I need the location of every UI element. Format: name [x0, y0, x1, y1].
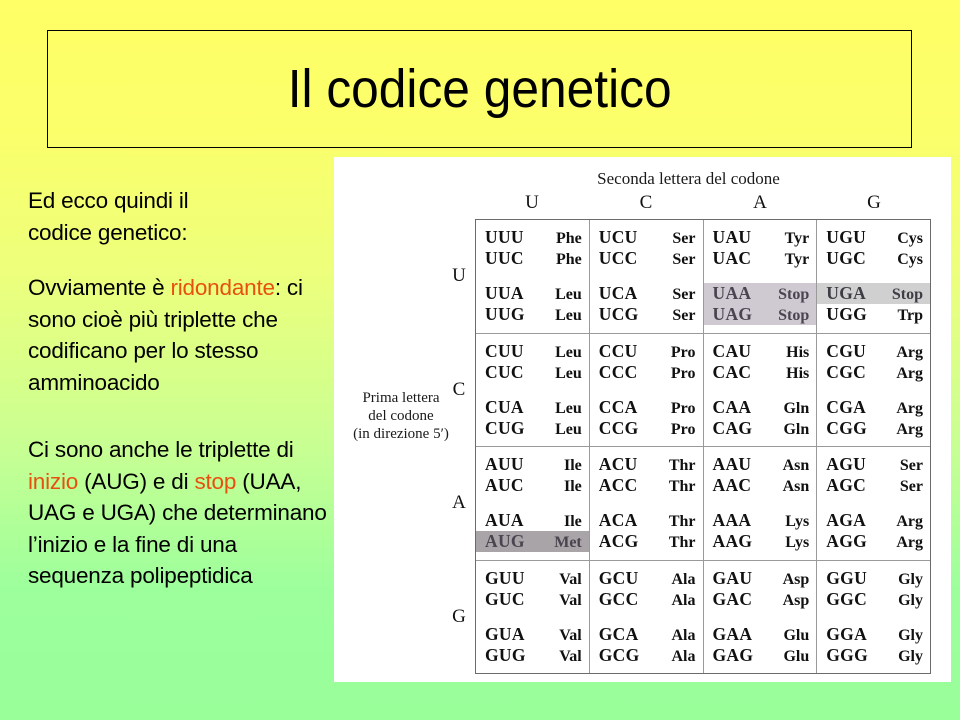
codon-triplet: CAU — [713, 341, 765, 362]
codon-entry: CAAGln — [704, 397, 817, 418]
amino-acid-label: Gly — [878, 571, 923, 589]
codon-entry: GUUVal — [476, 568, 589, 589]
codon-entry: CCGPro — [590, 418, 703, 439]
amino-acid-label: Val — [537, 592, 582, 610]
amino-acid-label: Leu — [537, 400, 582, 418]
codon-pair-bottom: GAAGluGAGGlu — [704, 624, 817, 666]
codon-triplet: AAG — [713, 531, 765, 552]
first-letter-caption-line-3: (in direzione 5′) — [340, 425, 462, 443]
codon-entry: GCUAla — [590, 568, 703, 589]
codon-cell-au: AUUIleAUCIleAUAIleAUGMet — [476, 447, 590, 560]
paragraph-redundancy-before: Ovviamente è — [28, 275, 170, 300]
codon-triplet: UGA — [826, 283, 878, 304]
codon-entry: UUUPhe — [476, 227, 589, 248]
codon-entry: AAUAsn — [704, 454, 817, 475]
codon-pair-top: CUULeuCUCLeu — [476, 341, 589, 383]
codon-pair-bottom: CUALeuCUGLeu — [476, 397, 589, 439]
amino-acid-label: Val — [537, 627, 582, 645]
codon-triplet: GGA — [826, 624, 878, 645]
codon-entry: AUAIle — [476, 510, 589, 531]
first-letter-caption-line-1: Prima lettera — [340, 389, 462, 407]
codon-triplet: UCG — [599, 304, 651, 325]
codon-triplet: GCA — [599, 624, 651, 645]
amino-acid-label: Leu — [537, 307, 582, 325]
amino-acid-label: Arg — [878, 534, 923, 552]
codon-entry: UUCPhe — [476, 248, 589, 269]
amino-acid-label: Tyr — [765, 230, 810, 248]
codon-pair-bottom: UUALeuUUGLeu — [476, 283, 589, 325]
codon-pair-bottom: UAAStopUAGStop — [704, 283, 817, 325]
amino-acid-label: Ser — [878, 457, 923, 475]
column-letter-a: A — [703, 192, 817, 214]
codon-triplet: CUG — [485, 418, 537, 439]
codon-triplet: GCU — [599, 568, 651, 589]
codon-triplet: CGC — [826, 362, 878, 383]
codon-entry: AUGMet — [476, 531, 589, 552]
codon-entry: UGCCys — [817, 248, 930, 269]
codon-triplet: GGG — [826, 645, 878, 666]
codon-cell-aa: AAUAsnAACAsnAAALysAAGLys — [704, 447, 818, 560]
codon-entry: AGUSer — [817, 454, 930, 475]
codon-pair-top: UAUTyrUACTyr — [704, 227, 817, 269]
codon-triplet: CGA — [826, 397, 878, 418]
codon-row-g: GUUValGUCValGUAValGUGValGCUAlaGCCAlaGCAA… — [476, 561, 930, 674]
amino-acid-label: Asp — [765, 571, 810, 589]
amino-acid-label: Ile — [537, 513, 582, 531]
amino-acid-label: Asn — [765, 457, 810, 475]
amino-acid-label: His — [765, 344, 810, 362]
amino-acid-label: Ala — [651, 627, 696, 645]
codon-triplet: GUG — [485, 645, 537, 666]
codon-entry: ACAThr — [590, 510, 703, 531]
row-letter-header-column: UCAG — [446, 219, 472, 674]
codon-triplet: GAC — [713, 589, 765, 610]
codon-row-u: UUUPheUUCPheUUALeuUUGLeuUCUSerUCCSerUCAS… — [476, 220, 930, 334]
codon-triplet: AAA — [713, 510, 765, 531]
codon-pair-bottom: ACAThrACGThr — [590, 510, 703, 552]
codon-cell-cu: CUULeuCUCLeuCUALeuCUGLeu — [476, 334, 590, 447]
amino-acid-label: Arg — [878, 421, 923, 439]
codon-triplet: CGG — [826, 418, 878, 439]
codon-entry: CGAArg — [817, 397, 930, 418]
amino-acid-label: Leu — [537, 286, 582, 304]
codon-pair-top: GAUAspGACAsp — [704, 568, 817, 610]
codon-pair-top: AAUAsnAACAsn — [704, 454, 817, 496]
lead-line-1: Ed ecco quindi il — [28, 188, 188, 213]
amino-acid-label: Gln — [765, 400, 810, 418]
amino-acid-label: Met — [537, 534, 582, 552]
codon-entry: GCAAla — [590, 624, 703, 645]
codon-entry: AGGArg — [817, 531, 930, 552]
codon-triplet: ACU — [599, 454, 651, 475]
second-letter-caption-text: Seconda lettera del codone — [597, 169, 780, 188]
highlight-inizio: inizio — [28, 469, 78, 494]
row-letter-c: C — [446, 333, 472, 447]
codon-cell-ca: CAUHisCACHisCAAGlnCAGGln — [704, 334, 818, 447]
codon-triplet: UAU — [713, 227, 765, 248]
page-title: Il codice genetico — [288, 58, 672, 120]
codon-entry: GGGGly — [817, 645, 930, 666]
amino-acid-label: Pro — [651, 400, 696, 418]
codon-entry: UUALeu — [476, 283, 589, 304]
amino-acid-label: Lys — [765, 513, 810, 531]
codon-entry: UGAStop — [817, 283, 930, 304]
codon-pair-bottom: GCAAlaGCGAla — [590, 624, 703, 666]
codon-entry: GCGAla — [590, 645, 703, 666]
codon-triplet: UGG — [826, 304, 878, 325]
paragraph-start-stop-part-2: (AUG) e di — [78, 469, 194, 494]
codon-cell-ug: UGUCysUGCCysUGAStopUGGTrp — [817, 220, 930, 333]
highlight-ridondante: ridondante — [170, 275, 274, 300]
codon-triplet: GGC — [826, 589, 878, 610]
codon-cell-gu: GUUValGUCValGUAValGUGVal — [476, 561, 590, 674]
codon-triplet: UUA — [485, 283, 537, 304]
column-letter-g: G — [817, 192, 931, 214]
codon-pair-bottom: UGAStopUGGTrp — [817, 283, 930, 325]
codon-triplet: CAG — [713, 418, 765, 439]
codon-entry: GAAGlu — [704, 624, 817, 645]
amino-acid-label: Arg — [878, 365, 923, 383]
codon-triplet: UCC — [599, 248, 651, 269]
codon-pair-bottom: GUAValGUGVal — [476, 624, 589, 666]
codon-triplet: UGC — [826, 248, 878, 269]
codon-entry: AUUIle — [476, 454, 589, 475]
amino-acid-label: Ala — [651, 648, 696, 666]
amino-acid-label: Tyr — [765, 251, 810, 269]
codon-pair-top: CGUArgCGCArg — [817, 341, 930, 383]
codon-row-c: CUULeuCUCLeuCUALeuCUGLeuCCUProCCCProCCAP… — [476, 334, 930, 448]
column-letter-header-row: UCAG — [475, 192, 931, 214]
codon-triplet: GGU — [826, 568, 878, 589]
amino-acid-label: Thr — [651, 534, 696, 552]
amino-acid-label: Cys — [878, 251, 923, 269]
codon-entry: CUCLeu — [476, 362, 589, 383]
amino-acid-label: Ser — [651, 251, 696, 269]
codon-cell-gc: GCUAlaGCCAlaGCAAlaGCGAla — [590, 561, 704, 674]
codon-pair-top: GCUAlaGCCAla — [590, 568, 703, 610]
codon-triplet: AGA — [826, 510, 878, 531]
codon-triplet: GUA — [485, 624, 537, 645]
codon-pair-bottom: CCAProCCGPro — [590, 397, 703, 439]
codon-pair-top: GUUValGUCVal — [476, 568, 589, 610]
codon-entry: UAAStop — [704, 283, 817, 304]
codon-entry: GAUAsp — [704, 568, 817, 589]
codon-triplet: GCC — [599, 589, 651, 610]
codon-entry: ACCThr — [590, 475, 703, 496]
amino-acid-label: Ser — [651, 230, 696, 248]
codon-pair-bottom: UCASerUCGSer — [590, 283, 703, 325]
codon-entry: AGCSer — [817, 475, 930, 496]
codon-pair-bottom: GGAGlyGGGGly — [817, 624, 930, 666]
codon-triplet: AUA — [485, 510, 537, 531]
row-letter-a: A — [446, 447, 472, 561]
amino-acid-label: Glu — [765, 627, 810, 645]
codon-entry: CUALeu — [476, 397, 589, 418]
amino-acid-label: Arg — [878, 344, 923, 362]
amino-acid-label: Val — [537, 571, 582, 589]
codon-entry: CCUPro — [590, 341, 703, 362]
codon-entry: GACAsp — [704, 589, 817, 610]
codon-entry: CGGArg — [817, 418, 930, 439]
codon-triplet: GAA — [713, 624, 765, 645]
codon-triplet: ACA — [599, 510, 651, 531]
lead-line-2: codice genetico: — [28, 220, 187, 245]
codon-triplet: ACG — [599, 531, 651, 552]
amino-acid-label: Gln — [765, 421, 810, 439]
amino-acid-label: Leu — [537, 421, 582, 439]
amino-acid-label: Lys — [765, 534, 810, 552]
codon-entry: AACAsn — [704, 475, 817, 496]
codon-cell-uu: UUUPheUUCPheUUALeuUUGLeu — [476, 220, 590, 333]
explanatory-text-column: Ed ecco quindi il codice genetico: Ovvia… — [28, 185, 328, 592]
highlight-stop: stop — [194, 469, 236, 494]
codon-triplet: CUU — [485, 341, 537, 362]
amino-acid-label: Val — [537, 648, 582, 666]
codon-pair-top: UGUCysUGCCys — [817, 227, 930, 269]
codon-triplet: UUG — [485, 304, 537, 325]
codon-pair-top: UUUPheUUCPhe — [476, 227, 589, 269]
codon-grid: UUUPheUUCPheUUALeuUUGLeuUCUSerUCCSerUCAS… — [475, 219, 931, 674]
codon-entry: CGCArg — [817, 362, 930, 383]
amino-acid-label: Stop — [878, 286, 923, 304]
codon-triplet: UAC — [713, 248, 765, 269]
amino-acid-label: Phe — [537, 251, 582, 269]
codon-entry: AAALys — [704, 510, 817, 531]
amino-acid-label: Gly — [878, 627, 923, 645]
codon-entry: AGAArg — [817, 510, 930, 531]
codon-triplet: ACC — [599, 475, 651, 496]
amino-acid-label: Cys — [878, 230, 923, 248]
codon-triplet: AAC — [713, 475, 765, 496]
codon-entry: CAUHis — [704, 341, 817, 362]
amino-acid-label: Ser — [651, 286, 696, 304]
row-letter-u: U — [446, 219, 472, 333]
amino-acid-label: Thr — [651, 457, 696, 475]
amino-acid-label: Pro — [651, 365, 696, 383]
codon-triplet: UUU — [485, 227, 537, 248]
codon-pair-top: CAUHisCACHis — [704, 341, 817, 383]
codon-pair-top: ACUThrACCThr — [590, 454, 703, 496]
codon-cell-ag: AGUSerAGCSerAGAArgAGGArg — [817, 447, 930, 560]
codon-triplet: CUA — [485, 397, 537, 418]
codon-pair-bottom: CGAArgCGGArg — [817, 397, 930, 439]
codon-cell-ac: ACUThrACCThrACAThrACGThr — [590, 447, 704, 560]
codon-triplet: CCC — [599, 362, 651, 383]
amino-acid-label: Arg — [878, 400, 923, 418]
codon-cell-uc: UCUSerUCCSerUCASerUCGSer — [590, 220, 704, 333]
amino-acid-label: Ile — [537, 457, 582, 475]
amino-acid-label: Ala — [651, 571, 696, 589]
codon-entry: CGUArg — [817, 341, 930, 362]
codon-entry: GUGVal — [476, 645, 589, 666]
row-letter-g: G — [446, 560, 472, 674]
codon-entry: UACTyr — [704, 248, 817, 269]
codon-entry: CCCPro — [590, 362, 703, 383]
codon-entry: CUULeu — [476, 341, 589, 362]
codon-entry: CAGGln — [704, 418, 817, 439]
codon-entry: GGAGly — [817, 624, 930, 645]
codon-pair-bottom: CAAGlnCAGGln — [704, 397, 817, 439]
amino-acid-label: Ala — [651, 592, 696, 610]
codon-pair-top: AUUIleAUCIle — [476, 454, 589, 496]
amino-acid-label: His — [765, 365, 810, 383]
paragraph-start-stop-part-1: Ci sono anche le triplette di — [28, 437, 294, 462]
codon-pair-bottom: AUAIleAUGMet — [476, 510, 589, 552]
amino-acid-label: Stop — [765, 286, 810, 304]
codon-triplet: CUC — [485, 362, 537, 383]
codon-entry: AUCIle — [476, 475, 589, 496]
codon-entry: UGUCys — [817, 227, 930, 248]
codon-triplet: CCG — [599, 418, 651, 439]
codon-entry: GUAVal — [476, 624, 589, 645]
codon-entry: GUCVal — [476, 589, 589, 610]
codon-triplet: AUG — [485, 531, 537, 552]
codon-entry: UCUSer — [590, 227, 703, 248]
amino-acid-label: Trp — [878, 307, 923, 325]
amino-acid-label: Thr — [651, 478, 696, 496]
codon-pair-bottom: AAALysAAGLys — [704, 510, 817, 552]
codon-triplet: CGU — [826, 341, 878, 362]
title-box: Il codice genetico — [47, 30, 912, 148]
codon-triplet: UAA — [713, 283, 765, 304]
codon-triplet: CCA — [599, 397, 651, 418]
paragraph-start-stop: Ci sono anche le triplette di inizio (AU… — [28, 434, 328, 592]
codon-entry: CACHis — [704, 362, 817, 383]
amino-acid-label: Ser — [878, 478, 923, 496]
amino-acid-label: Leu — [537, 344, 582, 362]
codon-triplet: GUC — [485, 589, 537, 610]
codon-triplet: AGU — [826, 454, 878, 475]
codon-triplet: AAU — [713, 454, 765, 475]
amino-acid-label: Gly — [878, 592, 923, 610]
codon-entry: UCASer — [590, 283, 703, 304]
codon-triplet: GCG — [599, 645, 651, 666]
codon-cell-ua: UAUTyrUACTyrUAAStopUAGStop — [704, 220, 818, 333]
column-letter-c: C — [589, 192, 703, 214]
codon-entry: UCCSer — [590, 248, 703, 269]
amino-acid-label: Thr — [651, 513, 696, 531]
codon-entry: UUGLeu — [476, 304, 589, 325]
codon-triplet: UGU — [826, 227, 878, 248]
genetic-code-table-panel: Seconda lettera del codone UCAG Prima le… — [334, 157, 951, 682]
codon-cell-ga: GAUAspGACAspGAAGluGAGGlu — [704, 561, 818, 674]
codon-entry: UAGStop — [704, 304, 817, 325]
codon-pair-top: GGUGlyGGCGly — [817, 568, 930, 610]
codon-entry: GCCAla — [590, 589, 703, 610]
paragraph-redundancy: Ovviamente è ridondante: ci sono cioè pi… — [28, 272, 328, 398]
amino-acid-label: Ile — [537, 478, 582, 496]
codon-entry: AAGLys — [704, 531, 817, 552]
codon-entry: CUGLeu — [476, 418, 589, 439]
codon-triplet: AUU — [485, 454, 537, 475]
amino-acid-label: Pro — [651, 421, 696, 439]
amino-acid-label: Glu — [765, 648, 810, 666]
amino-acid-label: Phe — [537, 230, 582, 248]
codon-triplet: UAG — [713, 304, 765, 325]
codon-entry: UGGTrp — [817, 304, 930, 325]
column-letter-u: U — [475, 192, 589, 214]
amino-acid-label: Pro — [651, 344, 696, 362]
codon-entry: UAUTyr — [704, 227, 817, 248]
amino-acid-label: Arg — [878, 513, 923, 531]
codon-triplet: AGC — [826, 475, 878, 496]
first-letter-caption-line-2: del codone — [340, 407, 462, 425]
codon-triplet: AGG — [826, 531, 878, 552]
amino-acid-label: Asp — [765, 592, 810, 610]
codon-cell-cg: CGUArgCGCArgCGAArgCGGArg — [817, 334, 930, 447]
codon-triplet: UCA — [599, 283, 651, 304]
lead-paragraph: Ed ecco quindi il codice genetico: — [28, 185, 328, 248]
codon-cell-gg: GGUGlyGGCGlyGGAGlyGGGGly — [817, 561, 930, 674]
codon-triplet: CCU — [599, 341, 651, 362]
codon-pair-bottom: AGAArgAGGArg — [817, 510, 930, 552]
codon-triplet: UUC — [485, 248, 537, 269]
amino-acid-label: Leu — [537, 365, 582, 383]
amino-acid-label: Ser — [651, 307, 696, 325]
codon-entry: ACUThr — [590, 454, 703, 475]
codon-entry: GGUGly — [817, 568, 930, 589]
second-letter-caption: Seconda lettera del codone — [334, 169, 951, 189]
first-letter-caption: Prima lettera del codone (in direzione 5… — [340, 389, 462, 443]
codon-triplet: GAU — [713, 568, 765, 589]
amino-acid-label: Stop — [765, 307, 810, 325]
amino-acid-label: Gly — [878, 648, 923, 666]
codon-triplet: CAA — [713, 397, 765, 418]
codon-pair-top: AGUSerAGCSer — [817, 454, 930, 496]
codon-pair-top: CCUProCCCPro — [590, 341, 703, 383]
codon-entry: GGCGly — [817, 589, 930, 610]
codon-entry: UCGSer — [590, 304, 703, 325]
codon-entry: ACGThr — [590, 531, 703, 552]
codon-triplet: GAG — [713, 645, 765, 666]
codon-triplet: UCU — [599, 227, 651, 248]
codon-entry: GAGGlu — [704, 645, 817, 666]
codon-entry: CCAPro — [590, 397, 703, 418]
codon-cell-cc: CCUProCCCProCCAProCCGPro — [590, 334, 704, 447]
codon-row-a: AUUIleAUCIleAUAIleAUGMetACUThrACCThrACAT… — [476, 447, 930, 561]
codon-triplet: GUU — [485, 568, 537, 589]
codon-triplet: AUC — [485, 475, 537, 496]
amino-acid-label: Asn — [765, 478, 810, 496]
codon-triplet: CAC — [713, 362, 765, 383]
codon-pair-top: UCUSerUCCSer — [590, 227, 703, 269]
